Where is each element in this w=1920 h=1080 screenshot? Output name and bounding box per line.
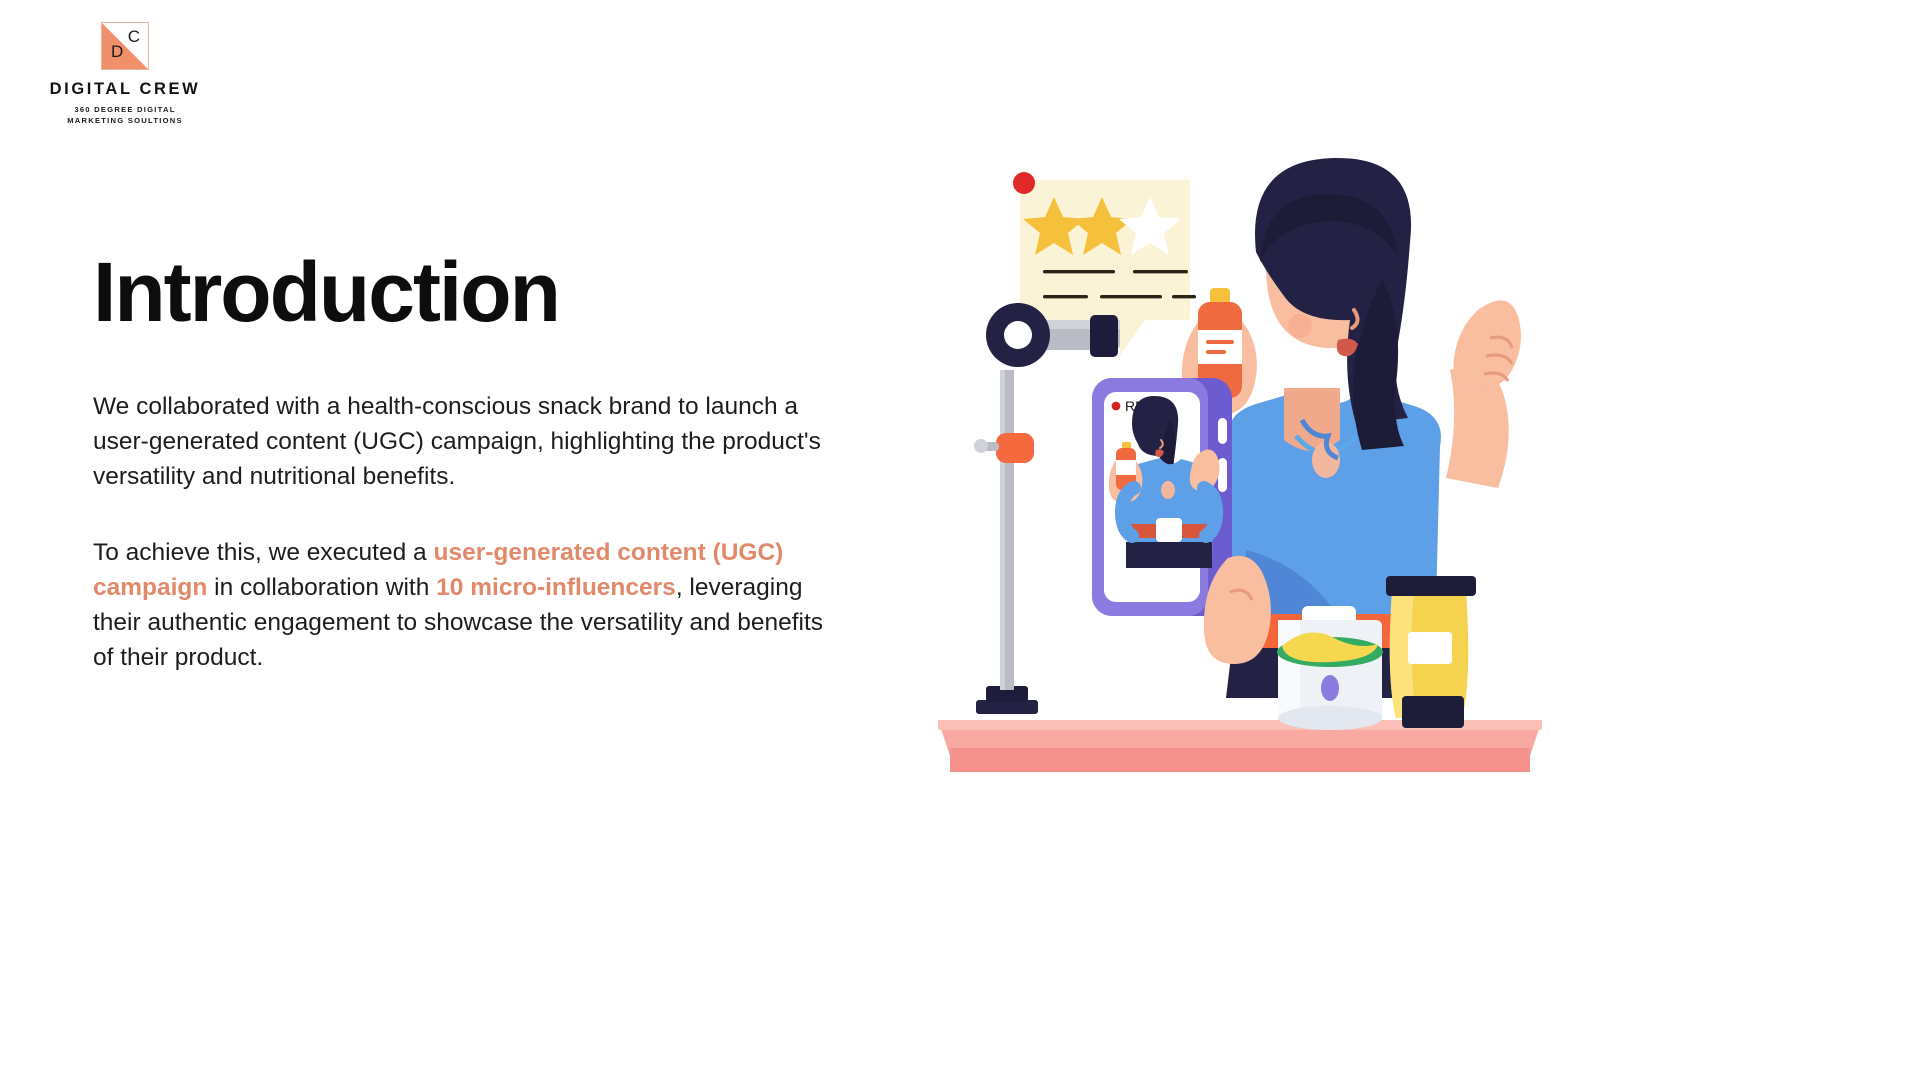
brand-logo: D C DIGITAL CREW 360 DEGREE DIGITAL MARK… [40,22,210,127]
tripod-knob-cap [974,439,988,453]
ugc-creator-filming-illustration: REC [930,140,1550,780]
paragraph-one: We collaborated with a health-conscious … [93,390,823,494]
brand-tagline: 360 DEGREE DIGITAL MARKETING SOULTIONS [67,104,183,127]
highlight-micro-influencers: 10 micro-influencers [436,574,676,601]
review-text-line [1100,295,1162,298]
bottle-label [1198,330,1242,364]
jar-bottom [1278,706,1382,730]
person-cheek [1288,314,1312,338]
phone-group: REC [1092,378,1232,616]
mini-buckle [1156,518,1182,542]
tube-label [1408,632,1452,664]
brand-name: DIGITAL CREW [50,80,201,99]
jar-highlight [1278,620,1300,720]
review-bubble-dot-icon [1013,172,1035,194]
table-front [950,748,1530,772]
person-neck [1284,388,1340,451]
jar-logo-icon [1321,675,1339,701]
review-text-line [1172,295,1196,298]
logo-diagonal-shape [102,23,148,69]
tube-top-seal [1386,576,1476,596]
bottle-cap [1210,288,1230,304]
bottle-label-line [1206,340,1234,344]
slide-root: D C DIGITAL CREW 360 DEGREE DIGITAL MARK… [0,0,1920,1080]
page-title: Introduction [93,250,823,334]
paragraph-two-mid: in collaboration with [207,574,436,601]
paragraph-two-lead: To achieve this, we executed a [93,539,433,566]
tripod-knob [996,433,1034,463]
review-text-line [1043,295,1088,298]
brand-tagline-line1: 360 DEGREE DIGITAL [67,104,183,115]
tripod-pole-highlight [1000,370,1005,690]
phone-button-up [1218,418,1227,444]
tripod-base-lower [976,700,1038,714]
brand-tagline-line2: MARKETING SOULTIONS [67,115,183,126]
mini-bottle-label [1116,460,1136,475]
logo-mark-icon: D C [101,22,149,70]
logo-letter-d: D [111,43,123,60]
mini-lower [1126,542,1212,568]
bottle-label-line [1206,350,1226,354]
tripod-clamp [1090,315,1118,357]
phone-button-down [1218,458,1227,492]
rec-dot-icon [1112,402,1121,411]
mini-pendant [1161,481,1175,499]
person-eye [1322,300,1334,316]
review-text-line [1133,270,1188,273]
tripod-head-inner [1004,321,1032,349]
mini-bottle-cap [1122,442,1131,449]
paragraph-two: To achieve this, we executed a user-gene… [93,536,823,675]
mini-eye [1152,433,1157,439]
tube-cap [1402,696,1464,728]
review-text-line [1043,270,1115,273]
logo-letter-c: C [128,28,140,45]
slide-copy: Introduction We collaborated with a heal… [93,250,823,675]
